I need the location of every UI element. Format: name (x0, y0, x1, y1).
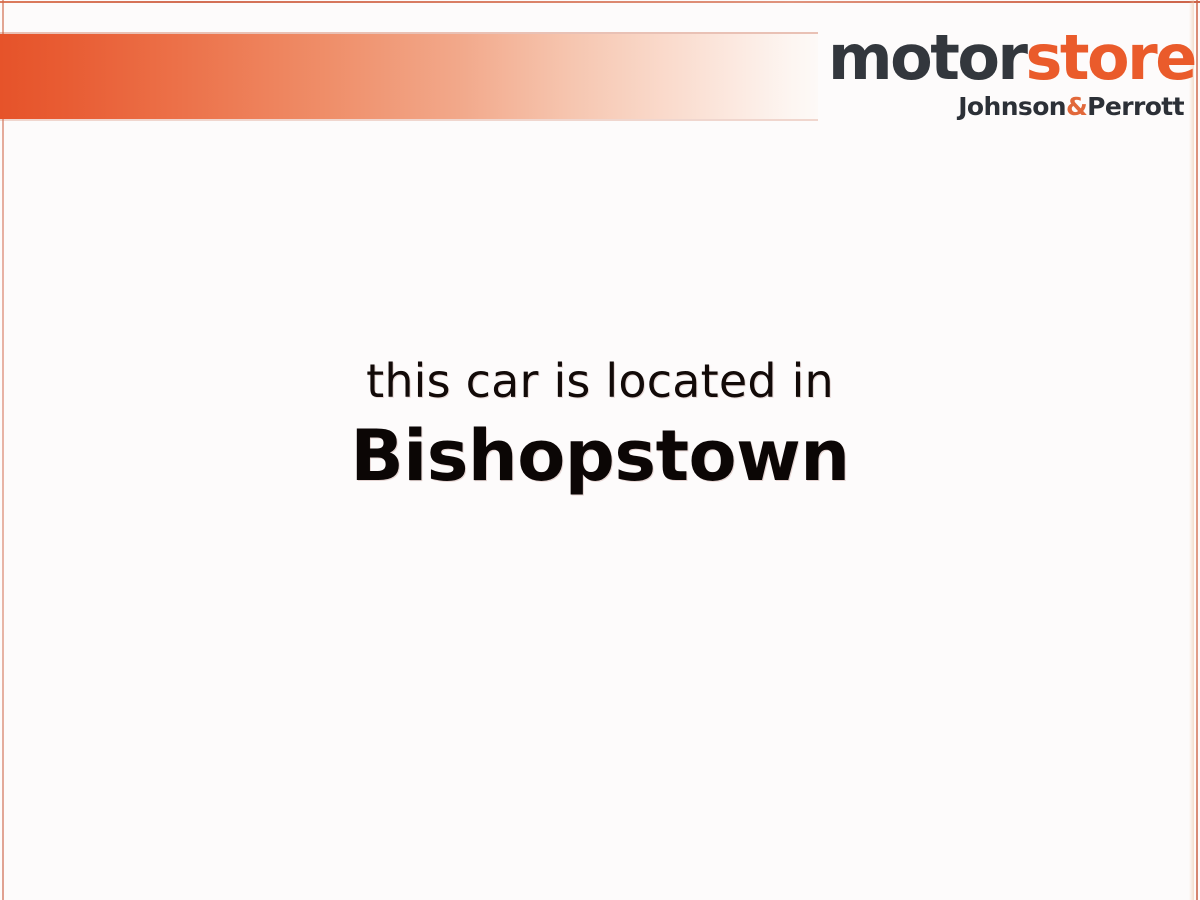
logo-word-store: store (1026, 21, 1195, 94)
logo-word-motor: motor (828, 21, 1026, 94)
logo-subtitle: Johnson&Perrott (828, 92, 1184, 121)
logo-ampersand: & (1066, 92, 1087, 121)
orange-gradient-banner (0, 34, 818, 119)
message-line-location: Bishopstown (0, 410, 1200, 498)
motorstore-logo: motorstore Johnson&Perrott (828, 24, 1184, 122)
logo-sub-perrott: Perrott (1087, 92, 1184, 121)
frame-border-bottom (0, 897, 1200, 899)
banner-hairline-bottom (0, 119, 818, 121)
slide-canvas: motorstore Johnson&Perrott this car is l… (0, 0, 1200, 900)
logo-wordmark: motorstore (828, 24, 1184, 92)
message-line-primary: this car is located in (0, 352, 1200, 410)
frame-border-top (0, 1, 1200, 3)
location-message: this car is located in Bishopstown (0, 352, 1200, 498)
logo-sub-johnson: Johnson (958, 92, 1066, 121)
